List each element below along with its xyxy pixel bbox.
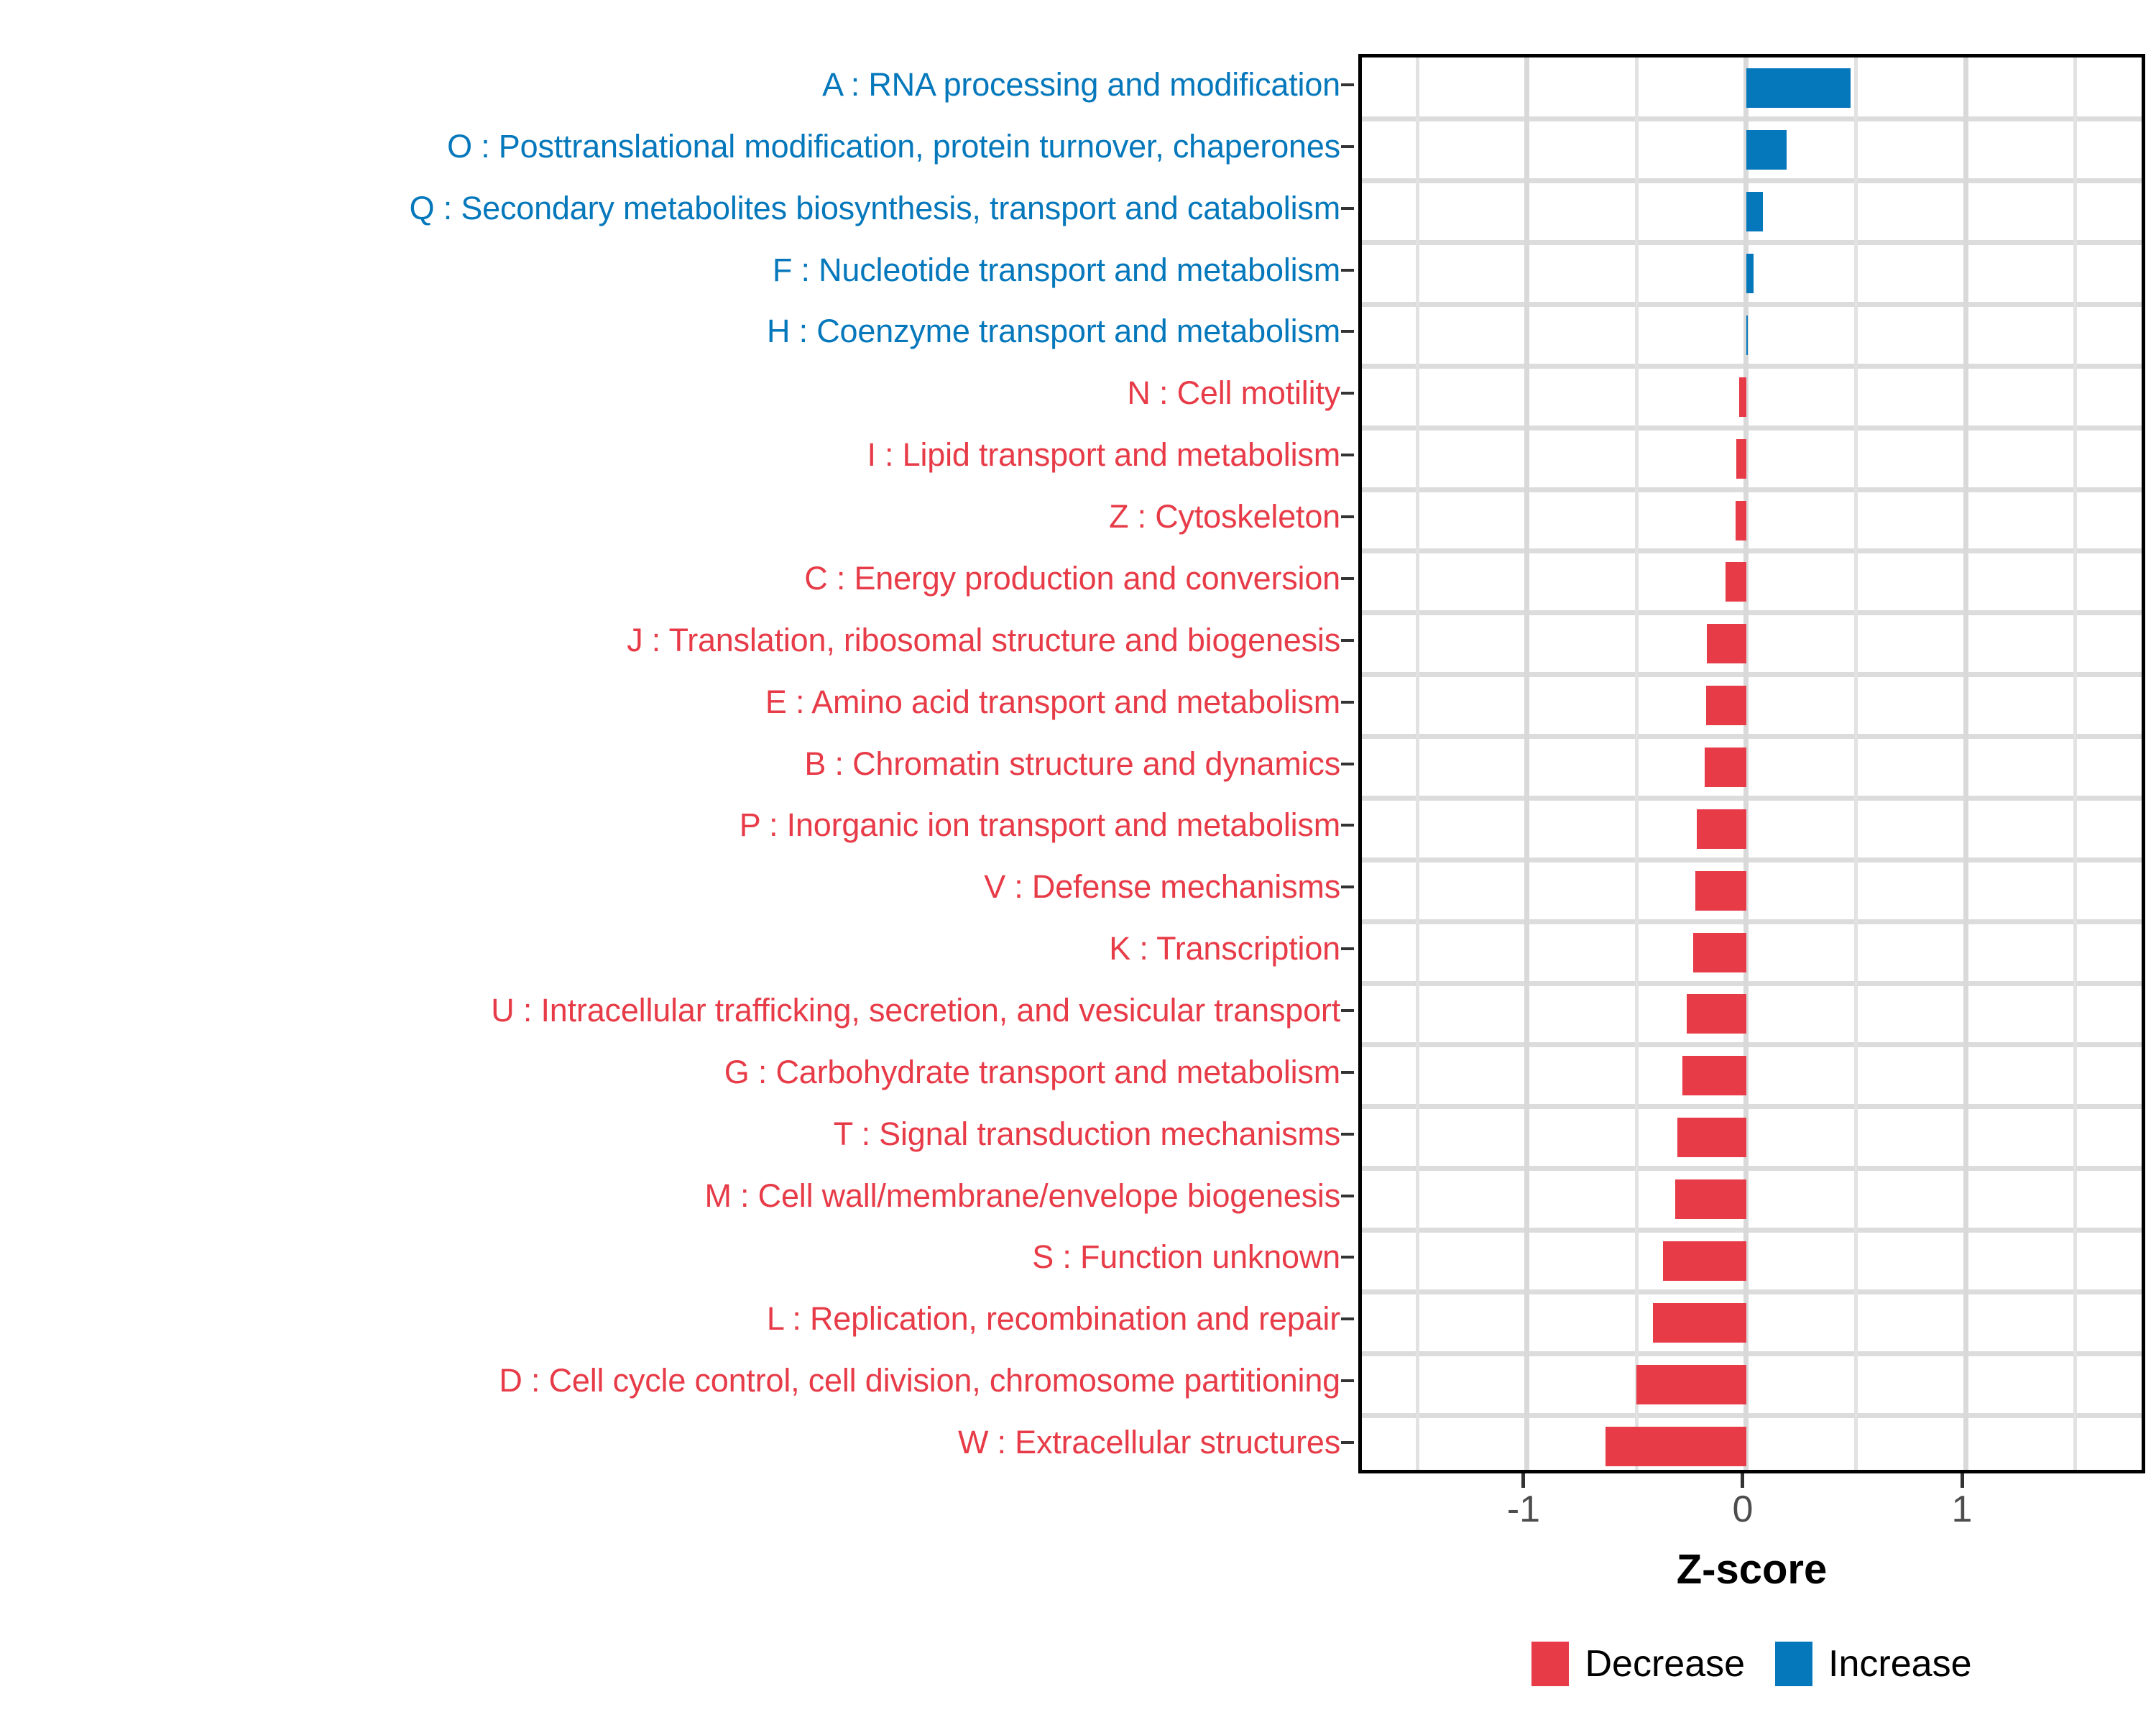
gridline-horizontal bbox=[1362, 857, 2142, 862]
bar[interactable] bbox=[1746, 192, 1763, 231]
gridline-horizontal bbox=[1362, 734, 2142, 739]
gridline-horizontal bbox=[1362, 1413, 2142, 1418]
gridline-vertical-minor bbox=[2073, 57, 2077, 1470]
category-label: U : Intracellular trafficking, secretion… bbox=[0, 994, 1340, 1026]
category-label: S : Function unknown bbox=[0, 1241, 1340, 1273]
bar[interactable] bbox=[1606, 1427, 1746, 1466]
y-axis-tick bbox=[1341, 947, 1354, 950]
category-label: Q : Secondary metabolites biosynthesis, … bbox=[0, 192, 1340, 224]
plot-panel bbox=[1358, 54, 2145, 1473]
category-label: V : Defense mechanisms bbox=[0, 870, 1340, 903]
x-axis-tick-label: 1 bbox=[1952, 1489, 1973, 1529]
gridline-horizontal bbox=[1362, 1166, 2142, 1171]
gridline-horizontal bbox=[1362, 796, 2142, 801]
bar[interactable] bbox=[1746, 68, 1851, 108]
gridline-horizontal bbox=[1362, 1042, 2142, 1047]
legend-label-increase: Increase bbox=[1828, 1644, 1971, 1684]
bar[interactable] bbox=[1707, 624, 1746, 663]
category-label: I : Lipid transport and metabolism bbox=[0, 438, 1340, 471]
bar[interactable] bbox=[1736, 439, 1746, 479]
gridline-vertical-minor bbox=[1635, 57, 1639, 1470]
y-axis-tick bbox=[1341, 269, 1354, 272]
x-axis-tick bbox=[1741, 1473, 1744, 1488]
bar[interactable] bbox=[1687, 994, 1746, 1034]
gridline-horizontal bbox=[1362, 487, 2142, 492]
gridline-vertical-minor bbox=[1854, 57, 1858, 1470]
category-label: Z : Cytoskeleton bbox=[0, 500, 1340, 533]
category-label: F : Nucleotide transport and metabolism bbox=[0, 254, 1340, 286]
y-axis-tick bbox=[1341, 1379, 1354, 1382]
gridline-horizontal bbox=[1362, 548, 2142, 553]
bar[interactable] bbox=[1677, 1118, 1746, 1157]
gridline-horizontal bbox=[1362, 240, 2142, 245]
bar[interactable] bbox=[1746, 254, 1754, 293]
category-label: A : RNA processing and modification bbox=[0, 68, 1340, 101]
gridline-horizontal bbox=[1362, 672, 2142, 677]
y-axis-tick bbox=[1341, 454, 1354, 456]
y-axis-tick bbox=[1341, 1317, 1354, 1320]
bar[interactable] bbox=[1636, 1365, 1746, 1404]
x-axis-tick bbox=[1521, 1473, 1525, 1488]
y-axis-tick bbox=[1341, 1133, 1354, 1136]
bar[interactable] bbox=[1739, 377, 1746, 417]
y-axis-tick bbox=[1341, 515, 1354, 518]
category-label: P : Inorganic ion transport and metaboli… bbox=[0, 809, 1340, 841]
y-axis-tick bbox=[1341, 1071, 1354, 1074]
bar[interactable] bbox=[1653, 1303, 1746, 1343]
y-axis-tick bbox=[1341, 824, 1354, 827]
gridline-horizontal bbox=[1362, 610, 2142, 615]
y-axis-tick bbox=[1341, 577, 1354, 580]
category-label: C : Energy production and conversion bbox=[0, 562, 1340, 594]
legend-swatch-decrease bbox=[1531, 1642, 1569, 1686]
y-axis-tick bbox=[1341, 885, 1354, 888]
bar[interactable] bbox=[1736, 501, 1746, 540]
category-label: H : Coenzyme transport and metabolism bbox=[0, 315, 1340, 347]
category-label: M : Cell wall/membrane/envelope biogenes… bbox=[0, 1179, 1340, 1212]
bar[interactable] bbox=[1705, 747, 1746, 787]
legend-swatch-increase bbox=[1775, 1642, 1812, 1686]
gridline-horizontal bbox=[1362, 425, 2142, 431]
bar[interactable] bbox=[1663, 1241, 1746, 1281]
bar[interactable] bbox=[1675, 1179, 1746, 1219]
y-axis-tick bbox=[1341, 1441, 1354, 1444]
x-axis-tick-label: -1 bbox=[1507, 1489, 1540, 1529]
y-axis-tick bbox=[1341, 145, 1354, 148]
plot-panel-inner bbox=[1362, 57, 2142, 1470]
category-label: W : Extracellular structures bbox=[0, 1426, 1340, 1458]
gridline-horizontal bbox=[1362, 302, 2142, 307]
category-label: E : Amino acid transport and metabolism bbox=[0, 686, 1340, 718]
gridline-vertical-major bbox=[1963, 57, 1968, 1470]
gridline-horizontal bbox=[1362, 1228, 2142, 1233]
bar[interactable] bbox=[1746, 316, 1748, 355]
gridline-horizontal bbox=[1362, 1104, 2142, 1109]
category-label: D : Cell cycle control, cell division, c… bbox=[0, 1364, 1340, 1397]
y-axis-tick bbox=[1341, 83, 1354, 86]
y-axis-tick bbox=[1341, 639, 1354, 642]
y-axis-tick bbox=[1341, 207, 1354, 210]
gridline-horizontal bbox=[1362, 178, 2142, 183]
y-axis-tick bbox=[1341, 1195, 1354, 1197]
chart-root: A : RNA processing and modificationO : P… bbox=[0, 0, 2156, 1725]
bar[interactable] bbox=[1697, 809, 1746, 849]
gridline-horizontal bbox=[1362, 364, 2142, 369]
gridline-horizontal bbox=[1362, 981, 2142, 986]
category-label: J : Translation, ribosomal structure and… bbox=[0, 624, 1340, 656]
legend-item-decrease[interactable]: Decrease bbox=[1531, 1642, 1745, 1686]
gridline-horizontal bbox=[1362, 919, 2142, 924]
gridline-horizontal bbox=[1362, 1289, 2142, 1294]
x-axis-title: Z-score bbox=[1358, 1545, 2145, 1593]
y-axis-tick bbox=[1341, 1256, 1354, 1259]
category-axis-labels: A : RNA processing and modificationO : P… bbox=[0, 54, 1340, 1473]
bar[interactable] bbox=[1726, 562, 1746, 602]
y-axis-tick bbox=[1341, 392, 1354, 395]
x-axis-tick bbox=[1961, 1473, 1964, 1488]
y-axis-tick bbox=[1341, 763, 1354, 765]
legend-item-increase[interactable]: Increase bbox=[1775, 1642, 1971, 1686]
bar[interactable] bbox=[1695, 871, 1746, 911]
bar[interactable] bbox=[1706, 686, 1746, 725]
y-axis-tick bbox=[1341, 701, 1354, 704]
y-axis-tick bbox=[1341, 1009, 1354, 1012]
category-label: K : Transcription bbox=[0, 932, 1340, 965]
category-label: B : Chromatin structure and dynamics bbox=[0, 747, 1340, 780]
gridline-vertical-major bbox=[1524, 57, 1529, 1470]
legend: Decrease Increase bbox=[1358, 1632, 2145, 1696]
bar[interactable] bbox=[1746, 130, 1787, 170]
y-axis-tick bbox=[1341, 330, 1354, 333]
bar[interactable] bbox=[1693, 933, 1746, 972]
category-label: O : Posttranslational modification, prot… bbox=[0, 130, 1340, 162]
x-axis-tick-label: 0 bbox=[1733, 1489, 1754, 1529]
bar[interactable] bbox=[1682, 1056, 1746, 1095]
gridline-horizontal bbox=[1362, 1351, 2142, 1356]
category-label: G : Carbohydrate transport and metabolis… bbox=[0, 1056, 1340, 1088]
category-label: N : Cell motility bbox=[0, 377, 1340, 409]
gridline-horizontal bbox=[1362, 116, 2142, 121]
gridline-vertical-minor bbox=[1416, 57, 1419, 1470]
category-label: L : Replication, recombination and repai… bbox=[0, 1302, 1340, 1335]
legend-label-decrease: Decrease bbox=[1585, 1644, 1745, 1684]
category-label: T : Signal transduction mechanisms bbox=[0, 1118, 1340, 1150]
